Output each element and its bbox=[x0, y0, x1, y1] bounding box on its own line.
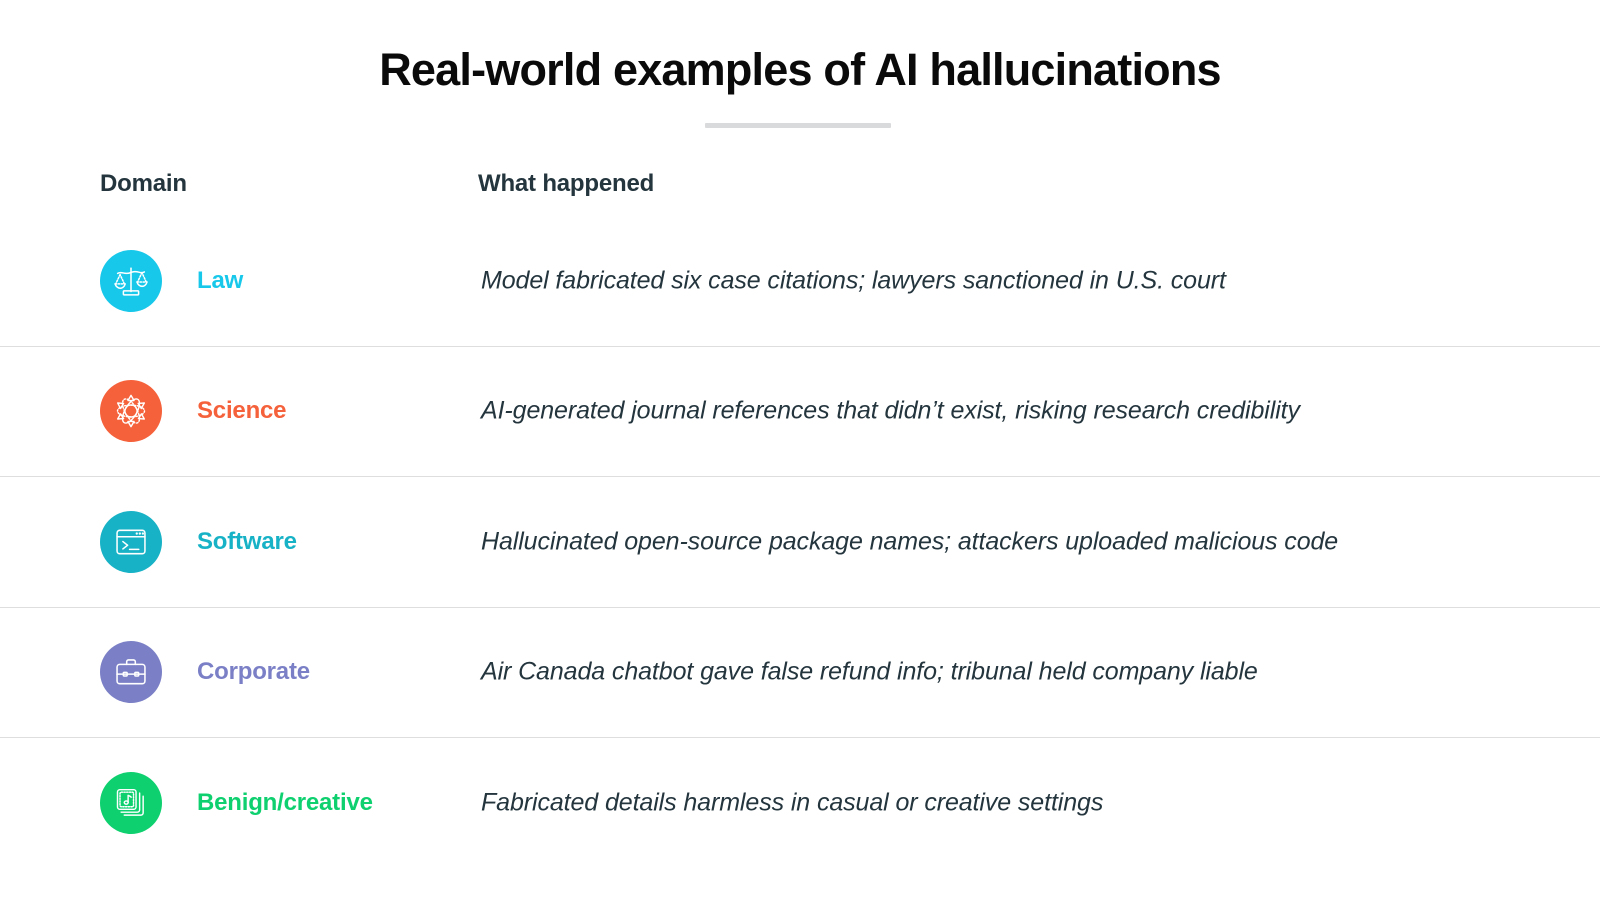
table-row: Corporate Air Canada chatbot gave false … bbox=[0, 607, 1600, 738]
row-description: AI-generated journal references that did… bbox=[481, 397, 1300, 426]
row-description: Hallucinated open-source package names; … bbox=[481, 527, 1338, 556]
scales-of-justice-icon bbox=[100, 250, 162, 312]
domain-label: Science bbox=[197, 397, 286, 425]
domain-label: Software bbox=[197, 528, 297, 556]
domain-label: Corporate bbox=[197, 658, 310, 686]
domain-label: Law bbox=[197, 267, 243, 295]
table-row: Benign/creative Fabricated details harml… bbox=[0, 737, 1600, 868]
table-row: Software Hallucinated open-source packag… bbox=[0, 476, 1600, 607]
infographic-page: Real-world examples of AI hallucinations… bbox=[0, 0, 1600, 900]
title-underline-rule bbox=[705, 123, 891, 128]
briefcase-icon bbox=[100, 641, 162, 703]
terminal-window-icon bbox=[100, 511, 162, 573]
row-description: Model fabricated six case citations; law… bbox=[481, 266, 1226, 295]
table-row: Science AI-generated journal references … bbox=[0, 346, 1600, 477]
row-description: Fabricated details harmless in casual or… bbox=[481, 788, 1103, 817]
table-header-row: Domain What happened bbox=[0, 164, 1600, 216]
examples-table: Domain What happened Law Model fabricate… bbox=[0, 164, 1600, 868]
row-description: Air Canada chatbot gave false refund inf… bbox=[481, 658, 1258, 687]
column-header-what-happened: What happened bbox=[478, 170, 654, 198]
table-row: Law Model fabricated six case citations;… bbox=[0, 216, 1600, 346]
domain-label: Benign/creative bbox=[197, 789, 373, 817]
column-header-domain: Domain bbox=[100, 170, 187, 198]
atom-icon bbox=[100, 380, 162, 442]
media-stack-music-icon bbox=[100, 772, 162, 834]
page-title: Real-world examples of AI hallucinations bbox=[0, 44, 1600, 96]
